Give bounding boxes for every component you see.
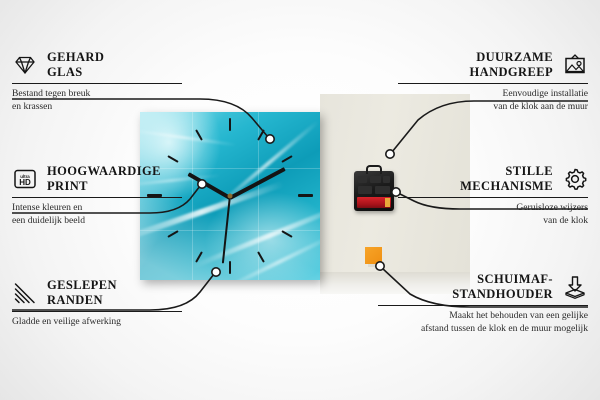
feature-header: SCHUIMAF- STANDHOUDER [378,272,588,302]
feature-hoogwaardige-print[interactable]: ultra HD HOOGWAARDIGE PRINT Intense kleu… [12,164,182,228]
infographic-canvas: GEHARD GLAS Bestand tegen breuk en krass… [0,0,600,400]
feature-desc-line2: en krassen [12,101,182,114]
diamond-icon [12,52,38,78]
mechanism-port [383,176,390,183]
ultra-hd-icon: ultra HD [12,166,38,192]
feature-title-line1: GESLEPEN [47,278,117,293]
feature-title-line2: PRINT [47,179,161,194]
feature-desc-line1: Maakt het behouden van een gelijke [378,310,588,323]
feature-desc-line2: van de klok [398,215,588,228]
feature-desc-line2: van de klok aan de muur [398,101,588,114]
feature-header: STILLE MECHANISME [398,164,588,194]
feature-title-line1: GEHARD [47,50,104,65]
divider [12,83,182,85]
feature-title-line2: STANDHOUDER [452,287,553,302]
feature-desc-line1: Geruisloze wijzers [398,202,588,215]
mechanism-port [375,186,390,194]
feature-gehard-glas[interactable]: GEHARD GLAS Bestand tegen breuk en krass… [12,50,182,114]
foam-spacer [365,247,382,264]
hour-tick-3 [298,194,313,197]
feature-title-line1: HOOGWAARDIGE [47,164,161,179]
divider [12,311,182,313]
feature-header: DUURZAME HANDGREEP [398,50,588,80]
feature-title-line1: SCHUIMAF- [452,272,553,287]
feature-title-line1: STILLE [460,164,553,179]
mechanism-port [358,176,367,183]
feature-title-line1: DUURZAME [470,50,553,65]
feature-header: GEHARD GLAS [12,50,182,80]
glass-reflection-line [140,230,320,231]
foam-spacer-side [382,250,386,267]
gear-icon [562,166,588,192]
beveled-edge-icon [12,280,38,306]
battery [357,197,391,208]
mechanism-port [358,186,372,194]
hour-tick-10 [167,155,178,163]
feature-schuimafstandhouder[interactable]: SCHUIMAF- STANDHOUDER Maakt het behouden… [378,272,588,336]
feature-geslepen-randen[interactable]: GESLEPEN RANDEN Gladde en veilige afwerk… [12,278,182,329]
divider [398,83,588,85]
feature-desc-line1: Gladde en veilige afwerking [12,316,182,329]
divider [378,305,588,307]
picture-hanger-icon [562,52,588,78]
battery-positive-tip [385,198,390,207]
feature-desc-line2: afstand tussen de klok en de muur mogeli… [378,323,588,336]
feature-duurzame-handgreep[interactable]: DUURZAME HANDGREEP Eenvoudige installati… [398,50,588,114]
clock-mechanism [354,171,394,211]
divider [398,197,588,199]
hour-tick-6 [229,261,231,274]
mechanism-port [370,176,381,183]
feather-streak [221,232,320,280]
feature-desc-line1: Eenvoudige installatie [398,88,588,101]
feature-stille-mechanisme[interactable]: STILLE MECHANISME Geruisloze wijzers van… [398,164,588,228]
hour-tick-12 [229,118,231,131]
feature-desc-line1: Intense kleuren en [12,202,182,215]
feature-title-line2: MECHANISME [460,179,553,194]
feather-streak [192,202,320,269]
feature-desc-line1: Bestand tegen breuk [12,88,182,101]
hour-tick-4 [281,230,292,238]
feature-desc-line2: een duidelijk beeld [12,215,182,228]
feather-streak [140,128,237,146]
feature-header: GESLEPEN RANDEN [12,278,182,308]
hour-tick-8 [167,230,178,238]
feature-title-line2: RANDEN [47,293,117,308]
clock-hub [228,194,233,199]
feature-title-line2: HANDGREEP [470,65,553,80]
mechanism-hook [366,165,382,174]
hour-tick-2 [281,155,292,163]
glass-reflection-line [192,112,193,280]
divider [12,197,182,199]
foam-spacer-icon [562,274,588,300]
feature-title-line2: GLAS [47,65,104,80]
feature-header: ultra HD HOOGWAARDIGE PRINT [12,164,182,194]
svg-text:HD: HD [19,178,31,187]
